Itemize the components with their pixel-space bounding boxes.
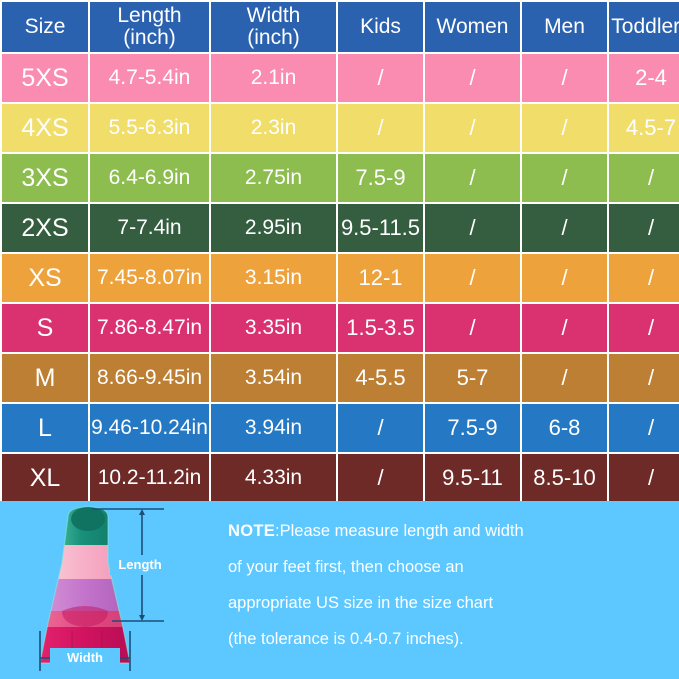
- cell-men: /: [522, 354, 607, 402]
- cell-size: 2XS: [2, 204, 88, 252]
- cell-men: /: [522, 254, 607, 302]
- header-cell-size: Size: [2, 2, 88, 52]
- cell-width: 4.33in: [211, 454, 336, 502]
- note-line-2: of your feet first, then choose an: [228, 549, 668, 585]
- cell-men: 8.5-10: [522, 454, 607, 502]
- cell-width: 3.35in: [211, 304, 336, 352]
- header-cell-toddlers: Toddlers: [609, 2, 679, 52]
- cell-women: /: [425, 104, 520, 152]
- length-arrow-down: [139, 615, 145, 621]
- cell-men: /: [522, 104, 607, 152]
- cell-men: 6-8: [522, 404, 607, 452]
- fin-foot-opening: [71, 507, 105, 531]
- cell-length: 7-7.4in: [90, 204, 209, 252]
- note-panel: Length Width NOTE:Please measure length …: [0, 501, 679, 679]
- cell-men: /: [522, 154, 607, 202]
- cell-kids: 4-5.5: [338, 354, 423, 402]
- note-line-4: (the tolerance is 0.4-0.7 inches).: [228, 621, 668, 657]
- fin-diagram-svg: Length Width: [12, 503, 224, 679]
- cell-width: 3.54in: [211, 354, 336, 402]
- cell-size: 3XS: [2, 154, 88, 202]
- cell-width: 2.95in: [211, 204, 336, 252]
- header-cell-length: Length (inch): [90, 2, 209, 52]
- cell-kids: /: [338, 104, 423, 152]
- cell-length: 5.5-6.3in: [90, 104, 209, 152]
- cell-women: 9.5-11: [425, 454, 520, 502]
- cell-length: 8.66-9.45in: [90, 354, 209, 402]
- cell-size: S: [2, 304, 88, 352]
- note-line-1: NOTE:Please measure length and width: [228, 513, 668, 549]
- cell-size: XL: [2, 454, 88, 502]
- table-header-row: Size Length (inch) Width (inch) Kids Wom…: [2, 2, 679, 52]
- cell-kids: 7.5-9: [338, 154, 423, 202]
- table-row: XL10.2-11.2in4.33in/9.5-118.5-10/: [2, 454, 679, 502]
- cell-length: 7.86-8.47in: [90, 304, 209, 352]
- cell-kids: 9.5-11.5: [338, 204, 423, 252]
- table-row: 4XS5.5-6.3in2.3in///4.5-7: [2, 104, 679, 152]
- header-cell-men: Men: [522, 2, 607, 52]
- table-row: 2XS7-7.4in2.95in9.5-11.5///: [2, 204, 679, 252]
- cell-size: M: [2, 354, 88, 402]
- cell-toddlers: /: [609, 354, 679, 402]
- cell-women: /: [425, 304, 520, 352]
- cell-width: 2.3in: [211, 104, 336, 152]
- cell-toddlers: 2-4: [609, 54, 679, 102]
- cell-width: 2.1in: [211, 54, 336, 102]
- note-line-3: appropriate US size in the size chart: [228, 585, 668, 621]
- cell-toddlers: /: [609, 304, 679, 352]
- cell-size: XS: [2, 254, 88, 302]
- size-chart-page: Size Length (inch) Width (inch) Kids Wom…: [0, 0, 679, 679]
- table-row: XS7.45-8.07in3.15in12-1///: [2, 254, 679, 302]
- table-row: 5XS4.7-5.4in2.1in///2-4: [2, 54, 679, 102]
- note-text: NOTE:Please measure length and width of …: [228, 513, 668, 657]
- note-label: NOTE: [228, 522, 275, 540]
- cell-size: 4XS: [2, 104, 88, 152]
- cell-toddlers: /: [609, 154, 679, 202]
- size-chart-table: Size Length (inch) Width (inch) Kids Wom…: [0, 0, 679, 504]
- cell-toddlers: /: [609, 254, 679, 302]
- note-line-1-text: Please measure length and width: [280, 522, 524, 540]
- header-cell-kids: Kids: [338, 2, 423, 52]
- table-body: 5XS4.7-5.4in2.1in///2-44XS5.5-6.3in2.3in…: [2, 54, 679, 502]
- length-arrow-up: [139, 509, 145, 515]
- cell-length: 7.45-8.07in: [90, 254, 209, 302]
- cell-width: 2.75in: [211, 154, 336, 202]
- cell-size: 5XS: [2, 54, 88, 102]
- cell-kids: /: [338, 454, 423, 502]
- cell-toddlers: /: [609, 454, 679, 502]
- table-row: L9.46-10.24in3.94in/7.5-96-8/: [2, 404, 679, 452]
- length-label: Length: [118, 557, 161, 572]
- table-row: M8.66-9.45in3.54in4-5.55-7//: [2, 354, 679, 402]
- cell-length: 10.2-11.2in: [90, 454, 209, 502]
- cell-women: /: [425, 54, 520, 102]
- width-label: Width: [67, 650, 103, 665]
- cell-length: 4.7-5.4in: [90, 54, 209, 102]
- cell-women: /: [425, 254, 520, 302]
- fin-illustration: Length Width: [12, 503, 224, 679]
- cell-toddlers: /: [609, 204, 679, 252]
- header-cell-width: Width (inch): [211, 2, 336, 52]
- cell-size: L: [2, 404, 88, 452]
- cell-men: /: [522, 54, 607, 102]
- table-row: 3XS6.4-6.9in2.75in7.5-9///: [2, 154, 679, 202]
- cell-kids: 12-1: [338, 254, 423, 302]
- cell-men: /: [522, 204, 607, 252]
- cell-women: 7.5-9: [425, 404, 520, 452]
- cell-length: 6.4-6.9in: [90, 154, 209, 202]
- cell-kids: 1.5-3.5: [338, 304, 423, 352]
- cell-men: /: [522, 304, 607, 352]
- cell-toddlers: /: [609, 404, 679, 452]
- cell-toddlers: 4.5-7: [609, 104, 679, 152]
- cell-women: /: [425, 154, 520, 202]
- cell-width: 3.94in: [211, 404, 336, 452]
- cell-width: 3.15in: [211, 254, 336, 302]
- cell-women: 5-7: [425, 354, 520, 402]
- table-row: S7.86-8.47in3.35in1.5-3.5///: [2, 304, 679, 352]
- cell-length: 9.46-10.24in: [90, 404, 209, 452]
- cell-kids: /: [338, 54, 423, 102]
- cell-women: /: [425, 204, 520, 252]
- fin-body: [32, 503, 142, 673]
- cell-kids: /: [338, 404, 423, 452]
- header-cell-women: Women: [425, 2, 520, 52]
